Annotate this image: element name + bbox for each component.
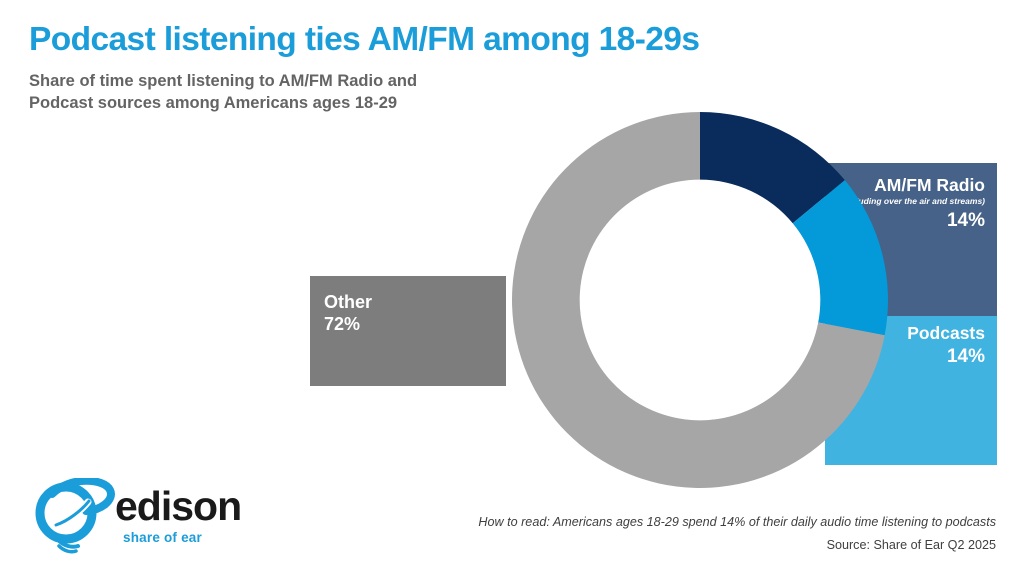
how-to-read-note: How to read: Americans ages 18-29 spend … xyxy=(478,515,996,529)
slide-canvas: Podcast listening ties AM/FM among 18-29… xyxy=(0,0,1024,576)
edison-bulb-ring-icon xyxy=(30,478,118,556)
logo-wordmark: edison xyxy=(115,486,241,527)
source-note: Source: Share of Ear Q2 2025 xyxy=(827,538,996,552)
donut-hole xyxy=(580,180,820,420)
logo-tagline: share of ear xyxy=(123,531,202,545)
edison-logo: edison share of ear xyxy=(30,478,235,556)
